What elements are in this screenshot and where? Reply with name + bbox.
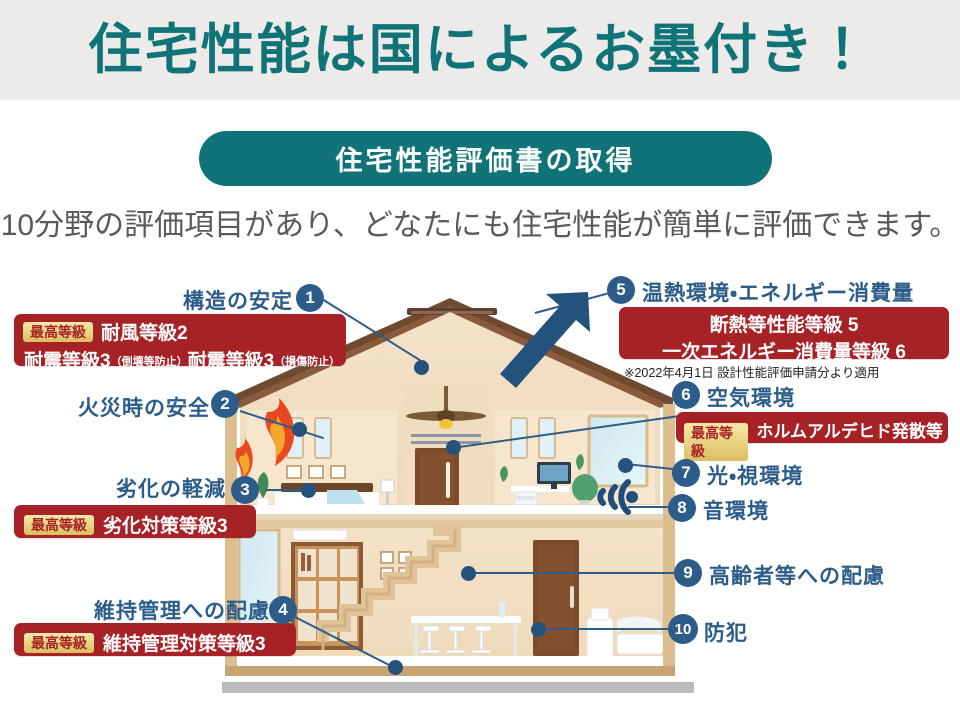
connector-9 — [468, 572, 674, 574]
item-label-4: 維持管理への配慮 — [94, 595, 270, 625]
connector-dot-10 — [531, 622, 546, 637]
badge-line1-3: 劣化対策等級3 — [103, 511, 228, 538]
connector-dot-4 — [388, 660, 403, 675]
badge-degradation: 最高等級 劣化対策等級3 — [14, 505, 256, 538]
item-label-1: 構造の安定 — [183, 285, 293, 315]
badge-air-environment: 最高等級 ホルムアルデヒド発散等級3 — [676, 412, 948, 443]
item-label-10: 防犯 — [704, 617, 748, 647]
badge-line2a-1: 耐震等級3 — [24, 351, 111, 372]
subtitle-text: 10分野の評価項目があり、どなたにも住宅性能が簡単に評価できます。 — [0, 200, 960, 244]
badge-thermal-environment: 断熱等性能等級 5 一次エネルギー消費量等級 6 — [619, 307, 949, 359]
badge-chip-6: 最高等級 — [684, 423, 748, 461]
sound-wave-icon — [586, 466, 640, 528]
heat-flow-arrow-icon — [492, 288, 602, 396]
badge-line1-5: 断熱等性能等級 5 — [619, 307, 949, 337]
connector-dot-6 — [446, 440, 461, 455]
section-pill-label: 住宅性能評価書の取得 — [336, 139, 636, 178]
badge-line2b-paren-1: （損傷防止） — [274, 356, 340, 368]
connector-dot-9 — [461, 566, 476, 581]
item-label-5: 温熱環境・エネルギー消費量 — [642, 277, 914, 307]
item-label-3: 劣化の軽減 — [116, 473, 226, 503]
badge-structural-stability: 最高等級 耐風等級2 耐震等級3（倒壊等防止）耐震等級3（損傷防止） — [14, 314, 346, 366]
connector-dot-1 — [414, 360, 429, 375]
item-number-8[interactable]: 8 — [668, 494, 696, 522]
badge-line1-1: 耐風等級2 — [101, 318, 188, 345]
item-label-7: 光・視環境 — [707, 460, 803, 490]
badge-line2-5: 一次エネルギー消費量等級 6 — [619, 337, 949, 364]
badge-maintenance: 最高等級 維持管理対策等級3 — [14, 623, 296, 656]
connector-10 — [538, 628, 668, 630]
badge-line2b-1: 耐震等級3 — [188, 351, 275, 372]
connector-dot-3 — [301, 483, 316, 498]
badge-chip-1: 最高等級 — [23, 322, 93, 342]
section-pill-button[interactable]: 住宅性能評価書の取得 — [199, 131, 772, 186]
item-number-7[interactable]: 7 — [672, 459, 700, 487]
page-title: 住宅性能は国によるお墨付き！ — [0, 14, 960, 86]
item-number-6[interactable]: 6 — [672, 381, 700, 409]
item-number-2[interactable]: 2 — [211, 390, 239, 418]
badge-line2a-paren-1: （倒壊等防止） — [111, 356, 188, 368]
connector-dot-2 — [292, 422, 307, 437]
badge-chip-3: 最高等級 — [24, 515, 94, 535]
item-number-3[interactable]: 3 — [231, 476, 259, 504]
item-number-10[interactable]: 10 — [668, 614, 698, 644]
item-label-2: 火災時の安全 — [78, 392, 210, 422]
badge-note-5: ※2022年4月1日 設計性能評価申請分より適用 — [624, 362, 879, 381]
item-label-9: 高齢者等への配慮 — [709, 560, 885, 590]
item-label-6: 空気環境 — [707, 382, 795, 412]
item-number-9[interactable]: 9 — [674, 559, 702, 587]
item-number-5[interactable]: 5 — [607, 276, 635, 304]
badge-line1-4: 維持管理対策等級3 — [103, 629, 266, 656]
item-label-8: 音環境 — [703, 495, 769, 525]
item-number-4[interactable]: 4 — [269, 596, 297, 624]
badge-chip-4: 最高等級 — [24, 633, 94, 653]
item-number-1[interactable]: 1 — [296, 284, 324, 312]
